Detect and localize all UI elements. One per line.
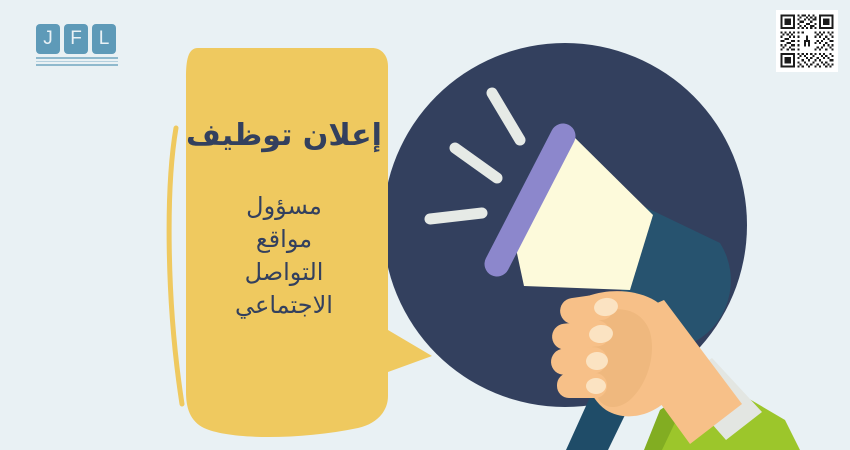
job-title-line-4: الاجتماعي [184, 289, 384, 322]
logo-rule [36, 57, 118, 59]
fingernail [586, 378, 606, 394]
logo-tile-l: L [92, 24, 116, 54]
logo-tile-f: F [64, 24, 88, 54]
logo-rule [36, 64, 118, 66]
speech-bubble-text-wrap: إعلان توظيف مسؤول مواقع التواصل الاجتماع… [160, 48, 460, 438]
logo-underline [36, 57, 118, 66]
job-title-line-3: التواصل [184, 256, 384, 289]
poster-canvas: إعلان توظيف مسؤول مواقع التواصل الاجتماع… [0, 0, 850, 450]
speech-bubble-text: إعلان توظيف مسؤول مواقع التواصل الاجتماع… [184, 58, 384, 398]
qr-code[interactable] [776, 10, 838, 72]
logo-rule [36, 61, 118, 62]
announcement-title: إعلان توظيف [184, 118, 384, 154]
logo-tile-j: J [36, 24, 60, 54]
job-title-block: مسؤول مواقع التواصل الاجتماعي [184, 190, 384, 322]
logo-letters: J F L [36, 24, 118, 54]
job-title-line-2: مواقع [184, 223, 384, 256]
jfl-logo: J F L [36, 24, 118, 68]
job-title-line-1: مسؤول [184, 190, 384, 223]
